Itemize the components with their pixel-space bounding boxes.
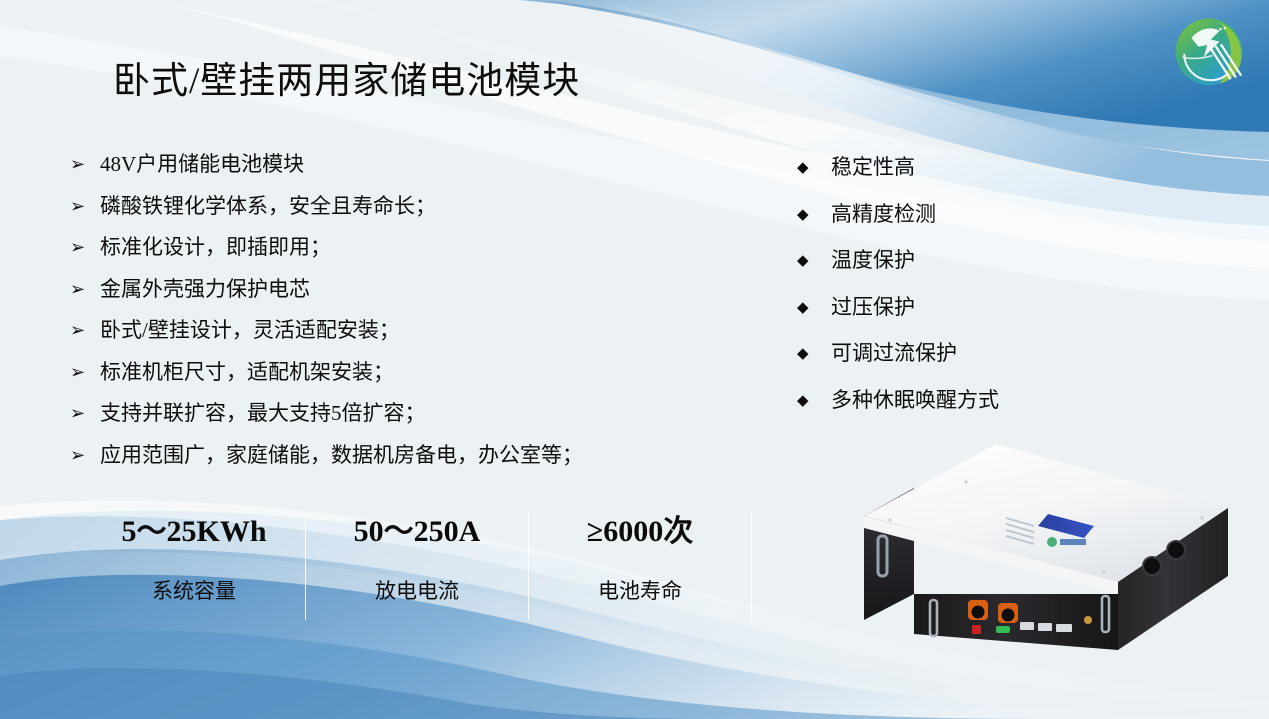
list-item-label: 温度保护 [831,248,1097,273]
list-item-label: 卧式/壁挂设计，灵活适配安装； [100,318,710,343]
arrow-bullet-icon: ➢ [70,277,100,302]
features-left-list: ➢ 48V户用储能电池模块 ➢ 磷酸铁锂化学体系，安全且寿命长； ➢ 标准化设计… [70,152,710,484]
features-right-list: ◆ 稳定性高 ◆ 高精度检测 ◆ 温度保护 ◆ 过压保护 ◆ 可调过流保护 ◆ … [797,155,1097,434]
list-item: ➢ 标准机柜尺寸，适配机架安装； [70,360,710,385]
list-item: ◆ 稳定性高 [797,155,1097,180]
list-item: ◆ 过压保护 [797,295,1097,320]
list-item-label: 应用范围广，家庭储能，数据机房备电，办公室等； [100,443,710,468]
spec-label: 放电电流 [306,578,528,604]
list-item: ➢ 48V户用储能电池模块 [70,152,710,177]
logo-mark-icon [1165,8,1253,96]
arrow-bullet-icon: ➢ [70,152,100,177]
arrow-bullet-icon: ➢ [70,235,100,260]
list-item: ➢ 支持并联扩容，最大支持5倍扩容； [70,401,710,426]
list-item-label: 可调过流保护 [831,341,1097,366]
spec-value: ≥6000次 [529,512,751,552]
arrow-bullet-icon: ➢ [70,194,100,219]
list-item: ➢ 金属外壳强力保护电芯 [70,277,710,302]
list-item-label: 稳定性高 [831,155,1097,180]
spec-label: 系统容量 [83,578,305,604]
diamond-bullet-icon: ◆ [797,295,831,320]
list-item-label: 磷酸铁锂化学体系，安全且寿命长； [100,194,710,219]
company-logo-icon [1165,8,1253,96]
diamond-bullet-icon: ◆ [797,388,831,413]
list-item: ➢ 卧式/壁挂设计，灵活适配安装； [70,318,710,343]
list-item: ◆ 可调过流保护 [797,341,1097,366]
list-item: ➢ 标准化设计，即插即用； [70,235,710,260]
arrow-bullet-icon: ➢ [70,401,100,426]
specs-divider [751,512,752,620]
arrow-bullet-icon: ➢ [70,443,100,468]
list-item: ➢ 磷酸铁锂化学体系，安全且寿命长； [70,194,710,219]
product-image [856,444,1236,659]
specs-summary-row: 5～25KWh 系统容量 50～250A 放电电流 ≥6000次 电池寿命 [83,512,783,622]
diamond-bullet-icon: ◆ [797,202,831,227]
diamond-bullet-icon: ◆ [797,155,831,180]
list-item: ◆ 温度保护 [797,248,1097,273]
list-item-label: 过压保护 [831,295,1097,320]
spec-value: 50～250A [306,512,528,552]
list-item: ◆ 多种休眠唤醒方式 [797,388,1097,413]
list-item: ◆ 高精度检测 [797,202,1097,227]
diamond-bullet-icon: ◆ [797,248,831,273]
spec-item-capacity: 5～25KWh 系统容量 [83,512,305,604]
arrow-bullet-icon: ➢ [70,318,100,343]
battery-module-illustration [856,444,1236,659]
slide-canvas: 卧式/壁挂两用家储电池模块 ➢ 48V户用储能电池模块 ➢ 磷酸铁锂化学体系，安… [0,0,1269,719]
list-item-label: 48V户用储能电池模块 [100,152,710,177]
list-item-label: 高精度检测 [831,202,1097,227]
list-item-label: 金属外壳强力保护电芯 [100,277,710,302]
slide-title: 卧式/壁挂两用家储电池模块 [113,58,580,106]
list-item-label: 多种休眠唤醒方式 [831,388,1097,413]
spec-value: 5～25KWh [83,512,305,552]
spec-item-lifespan: ≥6000次 电池寿命 [529,512,751,604]
spec-label: 电池寿命 [529,578,751,604]
arrow-bullet-icon: ➢ [70,360,100,385]
list-item-label: 标准机柜尺寸，适配机架安装； [100,360,710,385]
list-item-label: 标准化设计，即插即用； [100,235,710,260]
spec-item-current: 50～250A 放电电流 [306,512,528,604]
list-item: ➢ 应用范围广，家庭储能，数据机房备电，办公室等； [70,443,710,468]
diamond-bullet-icon: ◆ [797,341,831,366]
list-item-label: 支持并联扩容，最大支持5倍扩容； [100,401,710,426]
